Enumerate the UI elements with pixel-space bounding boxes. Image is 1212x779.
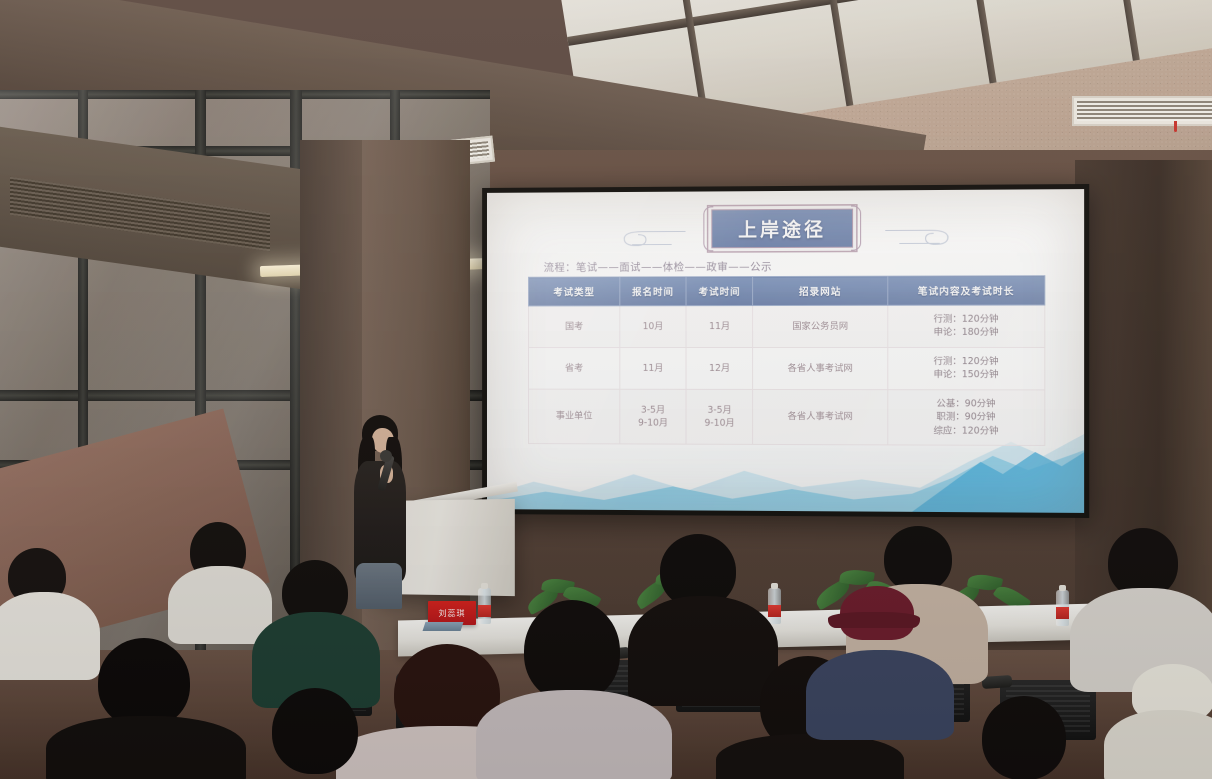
- audience-head: [272, 688, 358, 774]
- audience-body: [806, 650, 954, 740]
- cell-type: 事业单位: [528, 389, 619, 444]
- col-header-exam-time: 考试时间: [686, 277, 753, 306]
- table-row: 事业单位 3-5月 9-10月 3-5月 9-10月 各省人事考试网 公基：90…: [528, 389, 1044, 446]
- audience-body: [1104, 710, 1212, 779]
- audience-head: [884, 526, 952, 592]
- table-row: 国考 10月 11月 国家公务员网 行测：120分钟 申论：180分钟: [528, 305, 1044, 347]
- audience-body: [476, 690, 672, 779]
- col-header-content: 笔试内容及考试时长: [888, 276, 1045, 306]
- cloud-deco-right-icon: [883, 224, 970, 251]
- cell-apply-time: 11月: [620, 347, 686, 389]
- cell-content: 行测：120分钟 申论：180分钟: [888, 305, 1045, 347]
- cloud-deco-left-icon: [603, 225, 688, 251]
- water-bottle: [478, 588, 491, 624]
- cell-apply-time: 3-5月 9-10月: [620, 389, 686, 444]
- cell-content: 行测：120分钟 申论：150分钟: [888, 347, 1045, 389]
- page-title: 上岸途径: [711, 208, 853, 248]
- cell-exam-time: 11月: [686, 306, 753, 348]
- cell-website: 各省人事考试网: [753, 389, 888, 445]
- audience-body: [628, 596, 778, 706]
- cap-brim: [828, 612, 920, 628]
- lecture-hall-photo: 上岸途径 流程：笔试——面试——体检——政审——公示 考试类型 报名时间: [0, 0, 1212, 779]
- col-header-website: 招录网站: [753, 276, 888, 305]
- slide-content: 上岸途径 流程：笔试——面试——体检——政审——公示 考试类型 报名时间: [487, 189, 1084, 513]
- audience-head: [982, 696, 1066, 779]
- cell-type: 国考: [528, 306, 619, 348]
- audience-body: [46, 716, 246, 779]
- audience-body: [716, 734, 904, 779]
- cell-exam-time: 3-5月 9-10月: [686, 389, 753, 444]
- exam-comparison-table: 考试类型 报名时间 考试时间 招录网站 笔试内容及考试时长 国考 10月 11月…: [528, 275, 1045, 446]
- presenter: [352, 415, 422, 600]
- air-vent-icon: [1072, 96, 1212, 126]
- projection-screen: 上岸途径 流程：笔试——面试——体检——政审——公示 考试类型 报名时间: [482, 184, 1089, 518]
- audience-body: [0, 592, 100, 680]
- water-bottle: [1056, 590, 1069, 626]
- desk-paper: [423, 622, 464, 631]
- table-row: 省考 11月 12月 各省人事考试网 行测：120分钟 申论：150分钟: [528, 347, 1044, 389]
- col-header-apply-time: 报名时间: [620, 277, 686, 306]
- cell-type: 省考: [528, 347, 619, 389]
- cell-website: 国家公务员网: [753, 305, 888, 347]
- cell-website: 各省人事考试网: [753, 347, 888, 389]
- process-flow-label: 流程：笔试——面试——体检——政审——公示: [544, 259, 772, 275]
- slide-title-area: 上岸途径: [487, 203, 1084, 252]
- table-header-row: 考试类型 报名时间 考试时间 招录网站 笔试内容及考试时长: [528, 276, 1044, 306]
- col-header-type: 考试类型: [528, 277, 619, 306]
- audience-body: [168, 566, 272, 644]
- cell-apply-time: 10月: [620, 306, 686, 348]
- cell-exam-time: 12月: [686, 347, 753, 389]
- cell-content: 公基：90分钟 职测：90分钟 综应：120分钟: [888, 390, 1045, 446]
- water-bottle: [768, 588, 781, 624]
- audience-head: [98, 638, 190, 728]
- audience-head: [524, 600, 620, 702]
